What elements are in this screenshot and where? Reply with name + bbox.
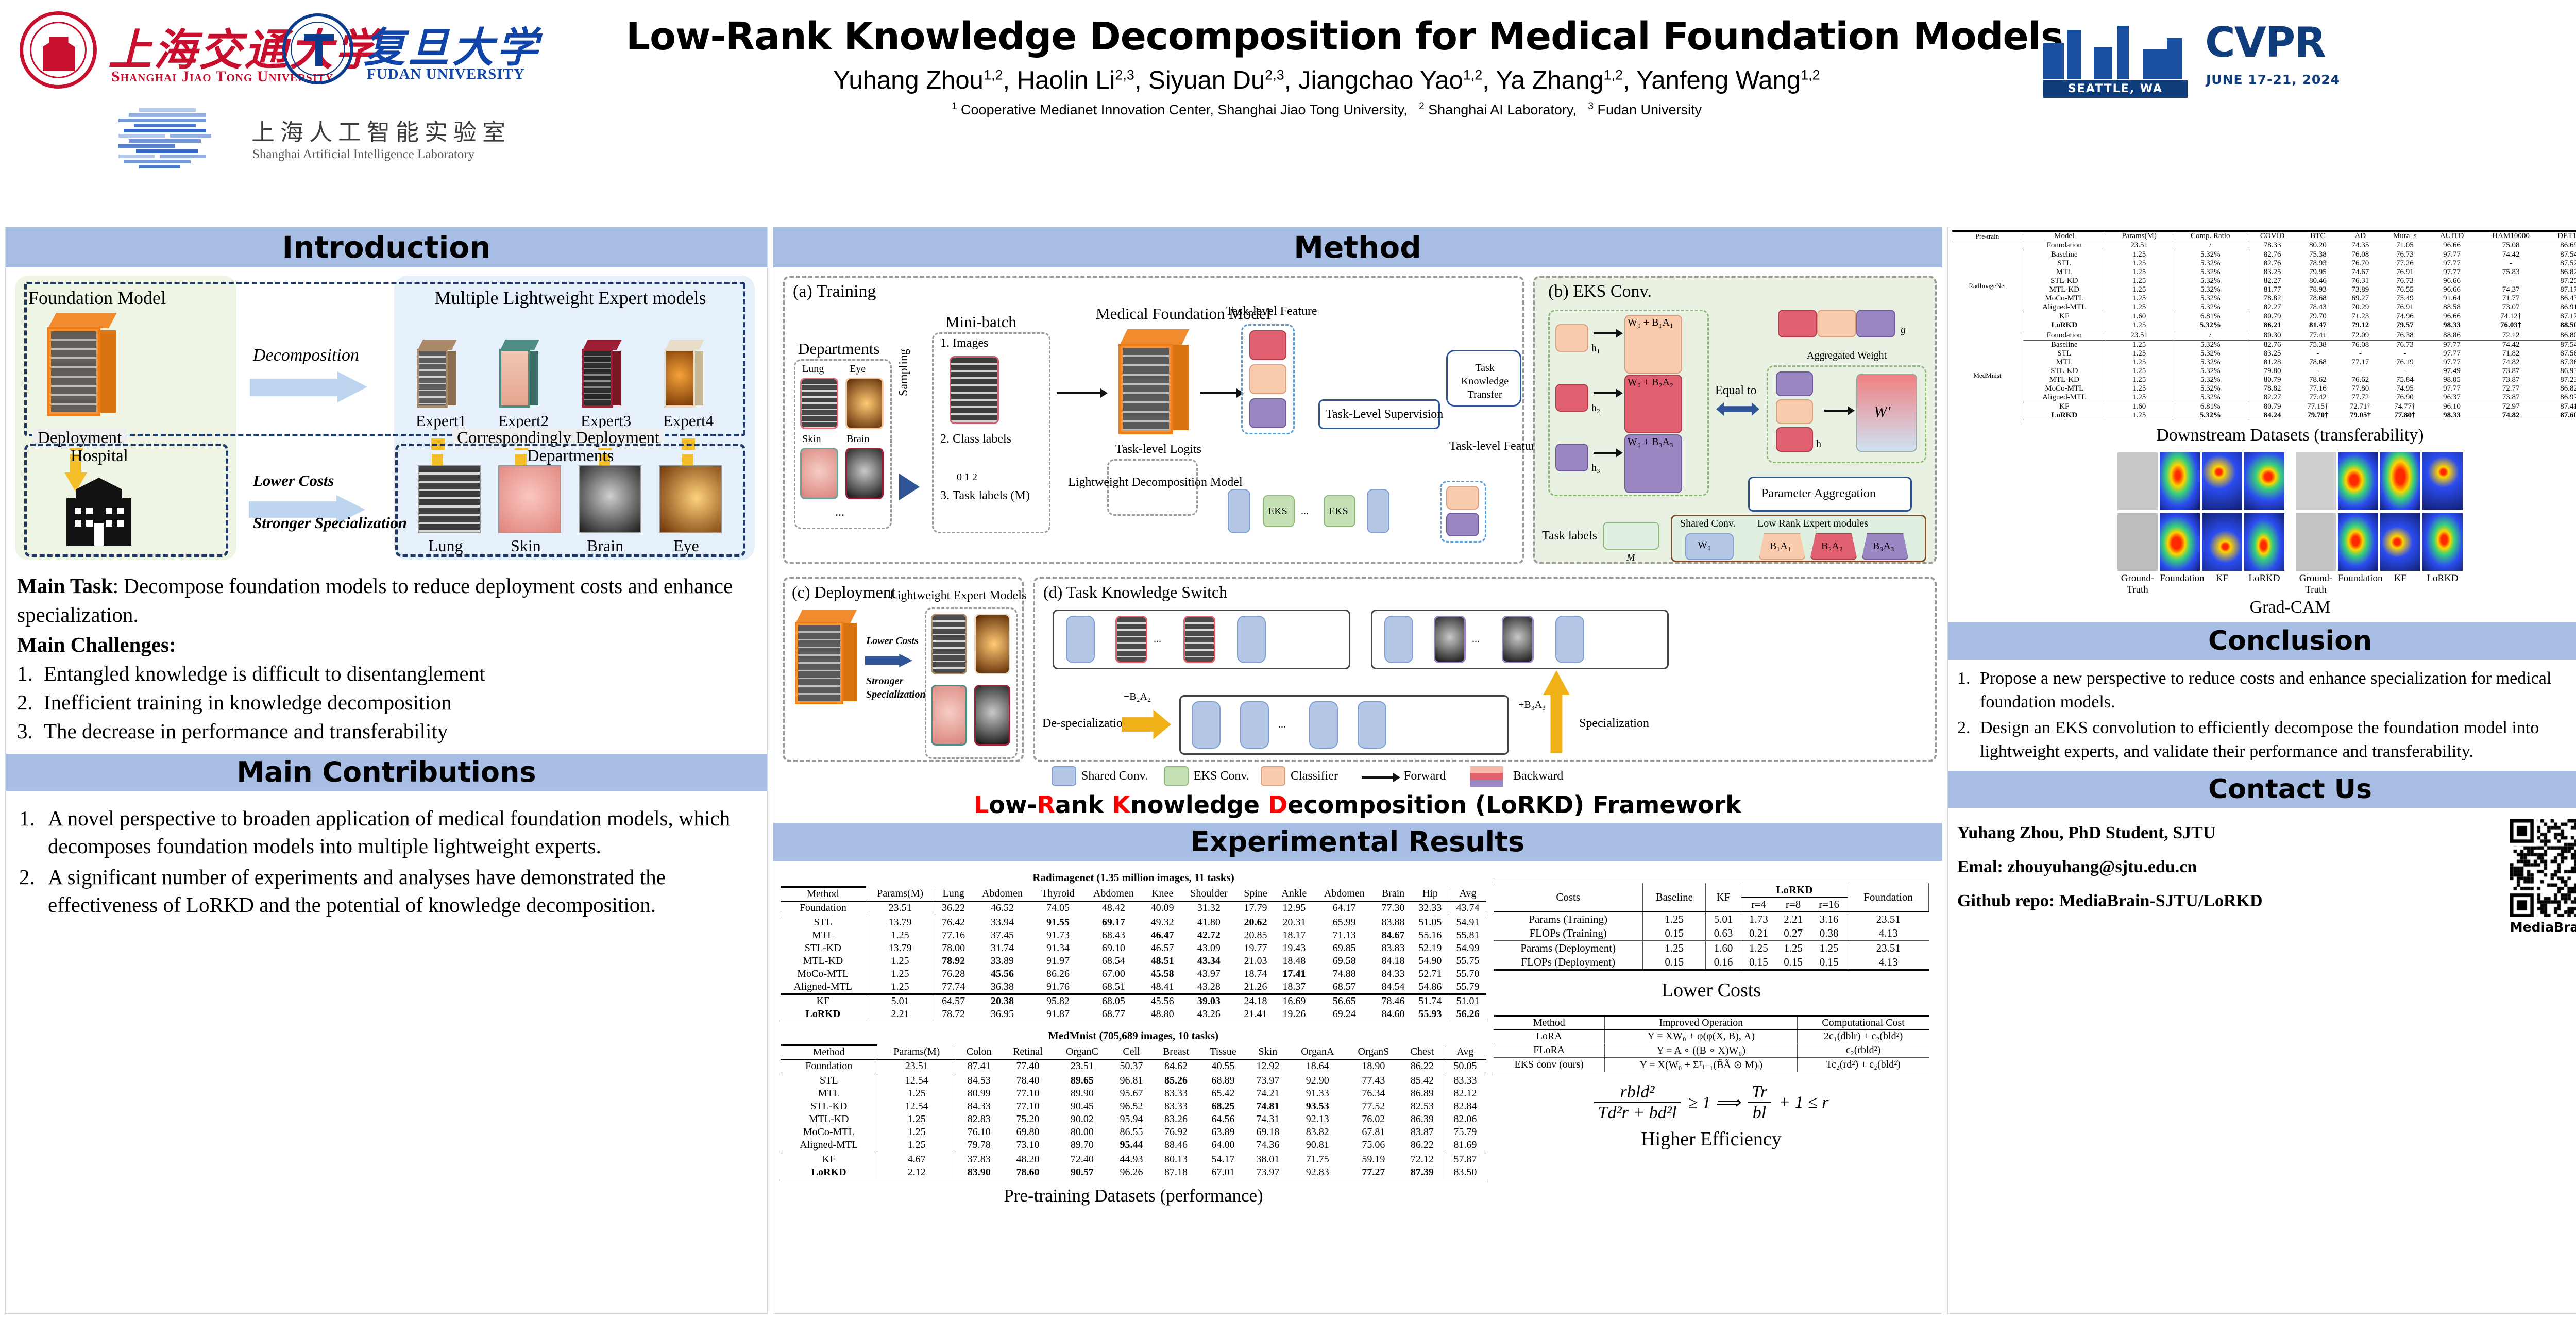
table-cell: 92.90 [1289,1074,1346,1088]
foundation-model-label: Foundation Model [28,287,166,309]
table-cell: 2.12 [877,1166,956,1180]
expert-label-1: Expert1 [416,412,466,430]
method-header: Method [773,227,1942,267]
list-item: 1.A novel perspective to broaden applica… [19,804,752,860]
table-cell: 64.17 [1314,901,1375,916]
table-cell: 76.70 [2339,259,2382,268]
tasklabels-item-label: 3. Task labels (M) [940,489,1030,503]
feature-block-peach [1249,364,1286,394]
table-cell: 64.00 [1199,1139,1247,1153]
table-cell: 48.42 [1083,901,1144,916]
legend-forward-arrow-icon [1362,776,1394,779]
table-cell: OrganA [1289,1045,1346,1060]
gradcam-image [2380,513,2420,571]
table-cell: 83.26 [1153,1113,1199,1126]
table-cell: 87.54 [2546,341,2576,350]
table-cell: 78.00 [935,942,972,955]
table-cell: 96.66 [2428,312,2476,322]
lower-costs-caption: Lower Costs [1494,979,1929,1002]
table-cell: 77.16 [2297,384,2340,393]
decomposition-label: Decomposition [253,346,359,365]
table-cell: 13.79 [866,942,935,955]
hospital-building-icon [60,474,138,546]
department-image-brain [579,465,641,533]
table-cell: 5.32% [2173,285,2248,294]
dept-eye-image [845,378,884,429]
table-cell: 87.41 [956,1059,1002,1074]
table-cell: KF [781,1153,877,1166]
table-cell: Params(M) [866,887,935,902]
table-cell: 55.93 [1412,1008,1449,1022]
table-cell: 23.51 [877,1059,956,1074]
table-cell: 98.33 [2428,321,2476,331]
table-cell: DET10 [2546,231,2576,241]
table-cell: 77.16 [935,929,972,942]
panel-c-label: (c) Deployment [792,583,896,602]
table-cell: 0.15 [1810,955,1848,970]
bottom-shared-4 [1358,701,1386,749]
table-cell: Computational Cost [1798,1016,1929,1030]
table-cell: MoCo-MTL [781,1126,877,1139]
table-cell: 2.21 [1776,912,1810,926]
gradcam-row [2117,513,2284,571]
table-cell: 1.25 [2106,376,2173,384]
class-label-digits: 0 1 2 [957,471,977,483]
table-cell: 40.09 [1144,901,1181,916]
plus-term-label: +B₃A₃ [1518,699,1546,711]
table-cell: 78.72 [935,1008,972,1022]
table-row: MoCo-MTL1.2576.2845.5686.2667.0045.5843.… [781,968,1486,980]
table-cell: 67.01 [1199,1166,1247,1180]
gradcam-image [2244,452,2284,510]
table-cell: Skin [1247,1045,1289,1060]
table-cell: 86.89 [1401,1087,1444,1100]
table-row: LoRAY = XW₀ + φ(φ(X, B), A)2c₁(dblr) + c… [1494,1030,1929,1043]
table-cell: 18.17 [1274,929,1314,942]
table-cell: 76.73 [2382,277,2429,285]
table-cell: 96.66 [2428,277,2476,285]
table-cell: 78.40 [1002,1074,1054,1088]
table-cell: Aligned-MTL [781,980,866,994]
gradcam-image [2202,513,2242,571]
table-cell: 6.81% [2173,402,2248,412]
list-item: 2.A significant number of experiments an… [19,863,752,919]
introduction-header: Introduction [6,227,767,267]
legend-swatch-shared [1052,766,1076,786]
table-cell: 74.96 [2382,312,2429,322]
eks-term-2: W₀ + B₂A₂ [1628,377,1673,388]
dept-skin-image [800,448,838,499]
table-cell: 84.62 [1153,1059,1199,1074]
eks-ellipsis: ... [1301,505,1309,517]
table-cell: 46.47 [1144,929,1181,942]
table-cell: c₂(rbld²) [1798,1043,1929,1058]
w-prime-label: W′ [1874,402,1891,421]
table-row: LoRKD1.255.32%84.2479.70†79.05†77.80†98.… [1952,411,2576,421]
bottom-shared-2 [1240,701,1269,749]
table-cell: 91.34 [1032,942,1083,955]
mfm-cube-icon [1118,329,1191,435]
table-cell: 48.41 [1144,980,1181,994]
gradcam-image [2338,452,2378,510]
table-cell: 97.77 [2428,349,2476,358]
table-cell: 76.42 [935,916,972,929]
table-cell: 84.54 [1375,980,1412,994]
radimagenet-caption: Radimagenet (1.35 million images, 11 tas… [781,871,1486,884]
expert-cube-1-icon [417,340,456,408]
ldm-out-peach [1446,486,1479,510]
table-cell: 1.25 [1643,941,1706,955]
ba-label-2: B₂A₂ [1821,540,1843,552]
switch-block-shared-d [1555,616,1584,663]
method-panel: Method (a) Training Departments Lung Eye… [773,227,1942,1314]
arrow-h-to-w [1824,410,1848,412]
table-cell: 78.46 [1375,994,1412,1008]
shared-conv-label: Shared Conv. [1680,518,1736,530]
table-cell: r=4 [1741,898,1776,912]
table-cell: 77.80 [2339,384,2382,393]
table-cell: 5.32% [2173,303,2248,312]
table-cell: 83.33 [1444,1074,1486,1088]
table-cell: 17.41 [1274,968,1314,980]
table-cell: 3.16 [1810,912,1848,926]
table-cell: 5.32% [2173,268,2248,277]
table-row: Baseline1.255.32%82.7675.3876.0876.7397.… [1952,341,2576,350]
table-cell: Avg [1449,887,1486,902]
table-cell: 23.51 [2106,241,2173,250]
table-cell: MTL-KD [2023,376,2106,384]
hospital-label: Hospital [71,447,128,466]
table-cell: Lung [935,887,972,902]
table-cell: 79.57 [2382,321,2429,331]
table-cell: - [2476,277,2546,285]
table-cell: 5.32% [2173,341,2248,350]
switch-bottom-row [1179,695,1509,755]
dept-skin-label: Skin [802,433,821,445]
table-row: KF1.606.81%80.7979.7071.2374.9696.6674.1… [1952,312,2576,322]
table-cell: 90.02 [1054,1113,1110,1126]
table-cell: 68.54 [1083,955,1144,968]
table-cell: Aligned-MTL [781,1139,877,1153]
table-cell-pretrain: RadImageNet [1952,241,2023,331]
table-row: MTL-KD1.2582.8375.2090.0295.9483.2664.56… [781,1113,1486,1126]
table-cell: 97.77 [2428,384,2476,393]
fudan-logo-chinese: 复旦大学 [364,14,541,74]
table-cell: 87.54 [2546,250,2576,260]
table-cell: 45.58 [1144,968,1181,980]
table-cell: 92.13 [1289,1113,1346,1126]
eks-term-3: W₀ + B₃A₃ [1628,436,1673,448]
table-cell: 68.05 [1083,994,1144,1008]
gradcam-group-right [2296,449,2463,571]
table-cell: Ankle [1274,887,1314,902]
foundation-model-cube-icon [47,313,117,416]
table-cell: 79.78 [956,1139,1002,1153]
minibatch-image-stack [950,356,999,424]
table-cell: 54.90 [1412,955,1449,968]
g-block-purple [1856,310,1895,337]
table-cell: 74.42 [2476,250,2546,260]
table-cell: HAM10000 [2476,231,2546,241]
table-cell: 91.73 [1032,929,1083,942]
table-cell: 19.43 [1274,942,1314,955]
table-cell: 80.79 [2248,312,2296,322]
table-cell: LoRKD [781,1008,866,1022]
table-cell: 74.36 [1247,1139,1289,1153]
table-cell: Params(M) [877,1045,956,1060]
gradcam-label: LoRKD [2244,573,2284,596]
table-cell: 87.17 [2546,312,2576,322]
gradcam-row [2296,513,2463,571]
medmnist-caption: MedMnist (705,689 images, 10 tasks) [781,1029,1486,1042]
table-cell: 18.74 [1237,968,1275,980]
lower-costs-label: Lower Costs [253,471,334,490]
table-cell: 54.99 [1449,942,1486,955]
legend-label-eks: EKS Conv. [1194,769,1249,783]
gradcam-group-left [2117,449,2284,571]
table-cell: 78.82 [2248,384,2296,393]
table-cell: 86.91 [2546,303,2576,312]
poster-root: 上海交通大学 Shanghai Jiao Tong University 复旦大… [0,0,2576,1319]
table-cell: 74.05 [1032,901,1083,916]
eks-term-1: W₀ + B₁A₁ [1628,317,1673,329]
department-name-eye: Eye [673,536,699,555]
table-row: LoRKD2.2178.7236.9591.8768.7748.8043.262… [781,1008,1486,1022]
table-cell: 5.32% [2173,349,2248,358]
sampling-arrow-icon [899,474,920,500]
table-cell: 20.62 [1237,916,1275,929]
table-cell: Baseline [2023,341,2106,350]
table-cell: AUITD [2428,231,2476,241]
table-cell: 84.67 [1375,929,1412,942]
table-cell: 87.39 [1401,1166,1444,1180]
table-cell: 74.67 [2339,268,2382,277]
table-cell: 83.82 [1289,1126,1346,1139]
table-cell: FLOPs (Training) [1494,926,1643,941]
table-cell: 78.68 [2297,358,2340,367]
table-cell: FLoRA [1494,1043,1605,1058]
table-cell: 83.83 [1375,942,1412,955]
table-cell: Method [781,887,866,902]
pretraining-caption: Pre-training Datasets (performance) [781,1186,1486,1206]
table-row: MedMnistFoundation23.51/80.3077.4172.097… [1952,331,2576,341]
table-cell: 76.19 [2382,358,2429,367]
ldm-shared-block-1 [1228,489,1250,533]
table-cell: / [2173,331,2248,341]
eks-input-cube-3 [1555,444,1588,471]
shanghai-ai-lab-mark-icon [118,108,242,173]
table-cell: 69.10 [1083,942,1144,955]
table-cell: 5.32% [2173,294,2248,303]
formula-numerator: rbld² [1594,1083,1681,1103]
h-stack-red [1776,427,1813,452]
table-cell: 21.03 [1237,955,1275,968]
table-cell: 89.70 [1054,1139,1110,1153]
table-cell: STL-KD [781,942,866,955]
department-name-brain: Brain [587,536,623,555]
author-list: Yuhang Zhou1,2, Haolin Li2,3, Siyuan Du2… [626,66,2027,95]
main-task-label: Main Task [17,574,113,598]
table-cell: r=8 [1776,898,1810,912]
table-cell: 5.32% [2173,250,2248,260]
costs-efficiency-tables: CostsBaselineKFLoRKDFoundationr=4r=8r=16… [1494,866,1929,1206]
table-cell: 81.69 [1444,1139,1486,1153]
table-cell: 97.77 [2428,341,2476,350]
table-cell: 0.27 [1776,926,1810,941]
table-cell: 1.25 [1776,941,1810,955]
table-row: Foundation23.5187.4177.4023.5150.3784.62… [781,1059,1486,1074]
bottom-ellipsis: ... [1278,719,1286,731]
dept-lung-image [800,378,838,429]
gradcam-image [2422,513,2463,571]
table-cell: Cell [1110,1045,1153,1060]
table-cell: 69.58 [1314,955,1375,968]
conclusion-list: 1.Propose a new perspective to reduce co… [1957,667,2576,764]
table-cell: 76.92 [1153,1126,1199,1139]
table-cell: 91.97 [1032,955,1083,968]
table-cell: 71.13 [1314,929,1375,942]
table-cell: MTL [2023,268,2106,277]
table-cell: 5.01 [866,994,935,1008]
table-cell: Breast [1153,1045,1199,1060]
table-cell: 77.74 [935,980,972,994]
table-cell: 95.82 [1032,994,1083,1008]
departments-label-method: Departments [798,340,879,358]
table-cell: 83.88 [1375,916,1412,929]
table-cell: LoRKD [2023,321,2106,331]
gradcam-label: KF [2380,573,2420,596]
affiliation-list: 1 Cooperative Medianet Innovation Center… [626,101,2027,118]
table-cell: 81.28 [2248,358,2296,367]
downstream-caption: Downstream Datasets (transferability) [1952,426,2576,445]
table-row: Aligned-MTL1.2579.7873.1089.7095.4488.46… [781,1139,1486,1153]
main-challenges-label: Main Challenges: [17,630,756,659]
table-cell: 42.72 [1181,929,1237,942]
table-cell: - [2382,349,2429,358]
table-cell: 1.25 [2106,259,2173,268]
contact-email[interactable]: Emal: zhouyuhang@sjtu.edu.cn [1957,850,2510,884]
table-cell: 56.65 [1314,994,1375,1008]
table-cell: Y = X(W₀ + Σᵀᵢ₌₁(B̃Ã ⊙ M)ᵢ) [1605,1058,1798,1073]
table-cell: 12.92 [1247,1059,1289,1074]
switch-block-shared-c [1384,616,1413,663]
table-cell: - [2297,367,2340,376]
table-cell: 43.28 [1181,980,1237,994]
gradcam-caption: Grad-CAM [1952,598,2576,617]
table-row: STL12.5484.5378.4089.6596.8185.2668.8973… [781,1074,1486,1088]
table-cell: 5.01 [1706,912,1741,926]
table-cell: 1.25 [2106,341,2173,350]
table-cell: 5.32% [2173,384,2248,393]
table-cell: KF [1706,883,1741,912]
table-cell: 79.12 [2339,321,2382,331]
contact-github[interactable]: Github repo: MediaBrain-SJTU/LoRKD [1957,884,2510,918]
table-cell: 74.81 [1247,1100,1289,1113]
table-cell: Hip [1412,887,1449,902]
table-cell: 4.13 [1848,926,1929,941]
table-cell: LoRKD [1741,883,1848,898]
table-cell: 84.33 [1375,968,1412,980]
table-cell: Improved Operation [1605,1016,1798,1030]
table-cell: 23.51 [1848,941,1929,955]
table-cell: 68.43 [1083,929,1144,942]
table-cell: 5.32% [2173,376,2248,384]
table-cell: FLOPs (Deployment) [1494,955,1643,970]
qr-code-icon[interactable] [2510,819,2576,917]
g-block-red [1778,310,1817,337]
table-cell: 1.25 [2106,367,2173,376]
legend-label-classifier: Classifier [1291,769,1338,783]
gradcam-label: LoRKD [2422,573,2463,596]
table-cell: 82.83 [956,1113,1002,1126]
equal-to-label: Equal to [1715,384,1757,398]
table-cell: 1.25 [866,955,935,968]
dept-eye-label: Eye [850,363,866,375]
table-row: MTL1.2577.1637.4591.7368.4346.4742.7220.… [781,929,1486,942]
legend-label-forward: Forward [1404,769,1446,783]
table-cell: 65.99 [1314,916,1375,929]
table-cell: 87.23 [2546,376,2576,384]
g-block-peach [1817,310,1856,337]
h-stack-peach [1776,399,1813,424]
gradcam-row [2117,452,2284,510]
table-cell: 31.74 [972,942,1033,955]
table-cell: 84.60 [1375,1008,1412,1022]
downstream-table: Pre-trainModelParams(M)Comp. RatioCOVIDB… [1952,230,2576,421]
eks-input-cube-1 [1555,324,1588,352]
switch-block-brain-a [1434,616,1466,663]
contributions-list: 1.A novel perspective to broaden applica… [19,804,752,919]
table-cell: MTL [781,1087,877,1100]
table-cell: 96.66 [2428,285,2476,294]
table-cell: 90.45 [1054,1100,1110,1113]
table-cell: 80.79 [2248,376,2296,384]
table-cell: Foundation [2023,331,2106,341]
expert-label-4: Expert4 [663,412,714,430]
table-cell: 79.80 [2248,367,2296,376]
list-item: 1.Propose a new perspective to reduce co… [1957,667,2576,714]
table-cell: 76.73 [2382,341,2429,350]
table-cell: 1.60 [2106,402,2173,412]
table-cell: 98.05 [2428,376,2476,384]
table-cell: 2c₁(dblr) + c₂(bld²) [1798,1030,1929,1043]
table-cell: 74.88 [1314,968,1375,980]
table-cell: 77.17 [2339,358,2382,367]
eks-label-2: EKS [1329,505,1348,517]
table-cell: 96.52 [1110,1100,1153,1113]
arrow-mfm-to-feature [1200,392,1237,394]
expert-cube-2-icon [499,340,538,408]
table-cell: 91.55 [1032,916,1083,929]
table-cell: - [2297,349,2340,358]
table-cell: 97.77 [2428,250,2476,260]
table-cell: KF [2023,312,2106,322]
table-cell: 87.17 [2546,285,2576,294]
table-cell: 73.87 [2476,376,2546,384]
table-cell: 77.52 [1346,1100,1401,1113]
table-header-row: MethodParams(M)LungAbdomenThyroidAbdomen… [781,887,1486,902]
table-cell: 80.79 [2248,402,2296,412]
table-cell: 75.83 [2476,268,2546,277]
table-cell: 36.38 [972,980,1033,994]
deployed-expert-1 [931,614,967,674]
table-cell: Abdomen [1083,887,1144,902]
table-cell: 33.89 [972,955,1033,968]
framework-caption: Low-Rank Knowledge Decomposition (LoRKD)… [773,791,1942,819]
table-cell: 74.82 [2476,411,2546,421]
table-cell: 82.27 [2248,303,2296,312]
table-cell: 0.15 [1741,955,1776,970]
